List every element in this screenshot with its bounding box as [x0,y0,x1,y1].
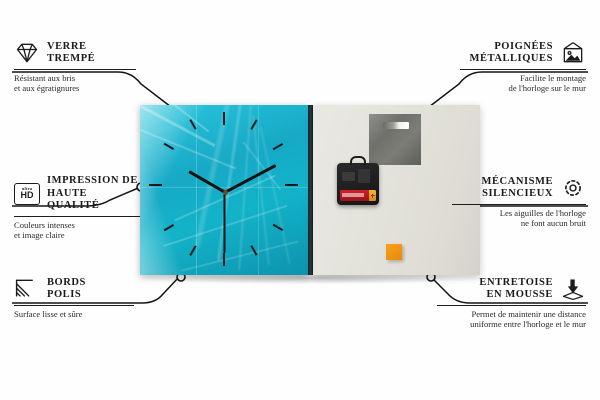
mechanism-loop [350,156,366,165]
glass-seam [140,187,308,188]
feature-desc: Résistant aux bris et aux égratignures [14,73,134,94]
divider [14,69,136,70]
feature-verre-trempe: VERRE TREMPÉ Résistant aux bris et aux é… [14,40,134,94]
clock-tick [285,184,298,186]
feature-desc: Couleurs intenses et image claire [14,220,140,241]
ultra-hd-main-label: HD [21,191,34,200]
feature-impression-haute-qualite: ultra HD IMPRESSION DE HAUTE QUALITÉ Cou… [14,175,140,240]
feature-bords-polis: BORDS POLIS Surface lisse et sûre [14,276,132,319]
divider [460,69,586,70]
ultra-hd-icon: ultra HD [14,183,40,205]
divider [452,204,586,205]
feature-poignees-metalliques: POIGNÉES MÉTALLIQUES Facilite le montage… [460,40,586,94]
metal-hanger-plate [369,114,421,165]
polished-edges-icon [14,276,40,302]
battery [340,190,376,201]
feature-desc: Permet de maintenir une distance uniform… [437,309,586,330]
glass-seam [258,105,259,275]
gear-icon [560,175,586,201]
divider [14,216,140,217]
clock-face [140,105,308,275]
clock-tick [273,143,283,150]
press-down-icon [560,276,586,302]
clock-mechanism [337,163,379,205]
divider [437,305,586,306]
clock-pivot [223,190,228,195]
battery-label [342,193,364,197]
foam-spacer [386,244,402,260]
battery-plus-icon [371,194,375,198]
mechanism-detail [358,169,370,183]
feature-desc: Les aiguilles de l'horloge ne font aucun… [452,208,586,229]
infographic-canvas: VERRE TREMPÉ Résistant aux bris et aux é… [0,0,600,400]
diamond-icon [14,40,40,66]
feature-title: MÉCANISME SILENCIEUX [452,176,553,201]
feature-title: ENTRETOISE EN MOUSSE [437,277,553,302]
mechanism-detail [342,172,355,181]
clock-tick [149,184,162,186]
feature-title: IMPRESSION DE HAUTE QUALITÉ [47,175,140,213]
feature-desc: Facilite le montage de l'horloge sur le … [460,73,586,94]
divider [14,305,134,306]
feature-title: BORDS POLIS [47,277,86,302]
clock-tick [164,224,174,231]
clock-tick [223,112,225,125]
hanger-slot [383,122,409,129]
wall-frame-icon [560,40,586,66]
product-image [140,105,480,275]
feature-title: POIGNÉES MÉTALLIQUES [460,41,553,66]
clock-tick [223,253,225,266]
glass-seam [196,105,197,275]
feature-title: VERRE TREMPÉ [47,41,95,66]
feature-desc: Surface lisse et sûre [14,309,132,319]
feature-entretoise-en-mousse: ENTRETOISE EN MOUSSE Permet de maintenir… [437,276,586,330]
feature-mecanisme-silencieux: MÉCANISME SILENCIEUX Les aiguilles de l'… [452,175,586,229]
